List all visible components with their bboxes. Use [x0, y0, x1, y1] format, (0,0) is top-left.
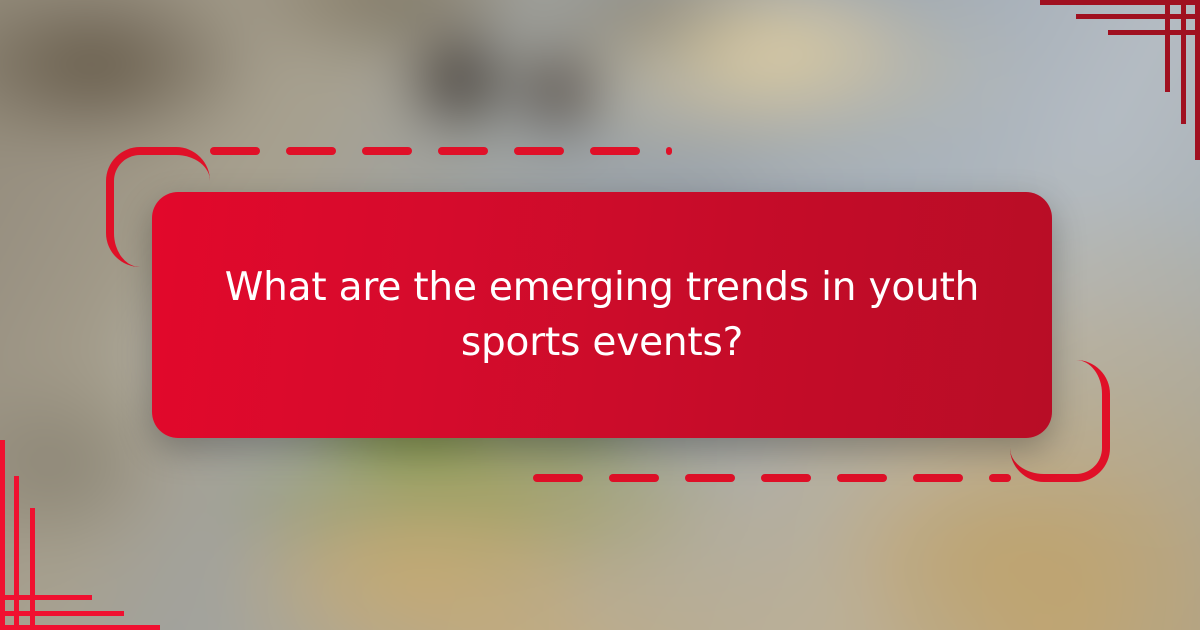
question-card: What are the emerging trends in youth sp…: [152, 192, 1052, 438]
background-blur-blob: [496, 29, 621, 154]
question-text: What are the emerging trends in youth sp…: [212, 260, 992, 371]
bottom-left-crosshatch-icon: [0, 440, 160, 630]
social-card-canvas: What are the emerging trends in youth sp…: [0, 0, 1200, 630]
top-right-crosshatch-icon: [1040, 0, 1200, 160]
